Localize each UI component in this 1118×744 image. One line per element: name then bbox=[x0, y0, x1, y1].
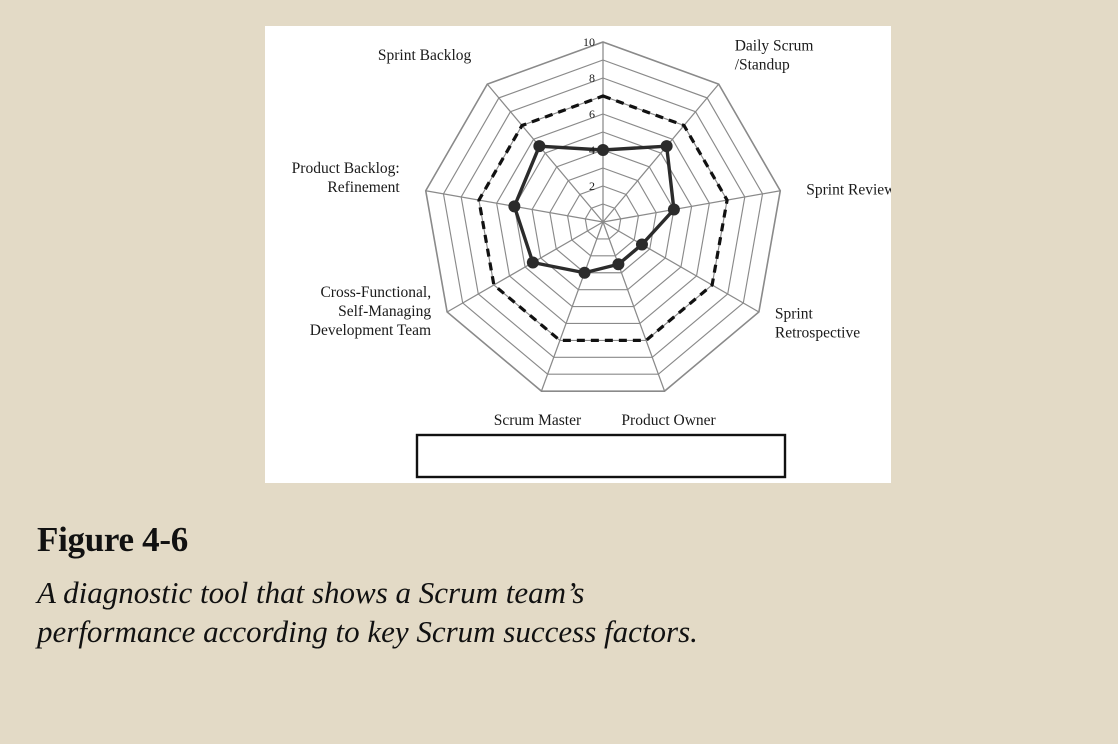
axis-label-3: Retrospective bbox=[775, 325, 860, 342]
legend-border bbox=[417, 435, 785, 477]
data-point-marker bbox=[527, 257, 539, 269]
radial-tick-label: 8 bbox=[589, 71, 595, 85]
chart-legend[interactable] bbox=[417, 435, 785, 477]
figure-caption-line-1: A diagnostic tool that shows a Scrum tea… bbox=[37, 573, 1087, 613]
axis-spoke-2 bbox=[603, 191, 780, 222]
axis-label-4: Product Owner bbox=[621, 412, 716, 429]
radar-tick-labels: 246810 bbox=[583, 35, 595, 193]
axis-label-6: Development Team bbox=[310, 322, 431, 339]
axis-label-8: Sprint Backlog bbox=[378, 47, 472, 64]
axis-label-2: Sprint Review bbox=[806, 182, 891, 199]
radial-tick-label: 10 bbox=[583, 35, 595, 49]
axis-label-7: Refinement bbox=[327, 179, 400, 196]
radial-tick-label: 2 bbox=[589, 179, 595, 193]
axis-label-1: /Standup bbox=[735, 57, 790, 74]
radar-chart: 246810 Sprint PlanningDaily Scrum/Standu… bbox=[265, 26, 891, 483]
data-point-marker bbox=[636, 239, 648, 251]
radial-tick-label: 6 bbox=[589, 107, 595, 121]
figure-number: Figure 4-6 bbox=[37, 522, 1087, 559]
axis-spoke-8 bbox=[487, 84, 603, 222]
data-point-marker bbox=[661, 140, 673, 152]
axis-label-6: Self-Managing bbox=[338, 303, 431, 320]
axis-spoke-3 bbox=[603, 222, 759, 312]
axis-label-6: Cross-Functional, bbox=[320, 284, 431, 301]
data-point-marker bbox=[533, 140, 545, 152]
figure-caption-block: Figure 4-6 A diagnostic tool that shows … bbox=[37, 522, 1087, 652]
axis-label-7: Product Backlog: bbox=[292, 160, 400, 177]
axis-label-5: Scrum Master bbox=[494, 412, 582, 429]
figure-caption-line-2: performance according to key Scrum succe… bbox=[37, 612, 1087, 652]
figure-panel: 246810 Sprint PlanningDaily Scrum/Standu… bbox=[265, 26, 891, 483]
data-point-marker bbox=[668, 203, 680, 215]
data-point-marker bbox=[508, 200, 520, 212]
radar-axis-labels: Sprint PlanningDaily Scrum/StandupSprint… bbox=[292, 26, 891, 429]
axis-label-3: Sprint bbox=[775, 306, 814, 323]
radial-tick-label: 4 bbox=[589, 143, 595, 157]
axis-label-1: Daily Scrum bbox=[735, 38, 814, 55]
data-point-marker bbox=[579, 267, 591, 279]
data-point-marker bbox=[597, 144, 609, 156]
data-point-marker bbox=[612, 258, 624, 270]
